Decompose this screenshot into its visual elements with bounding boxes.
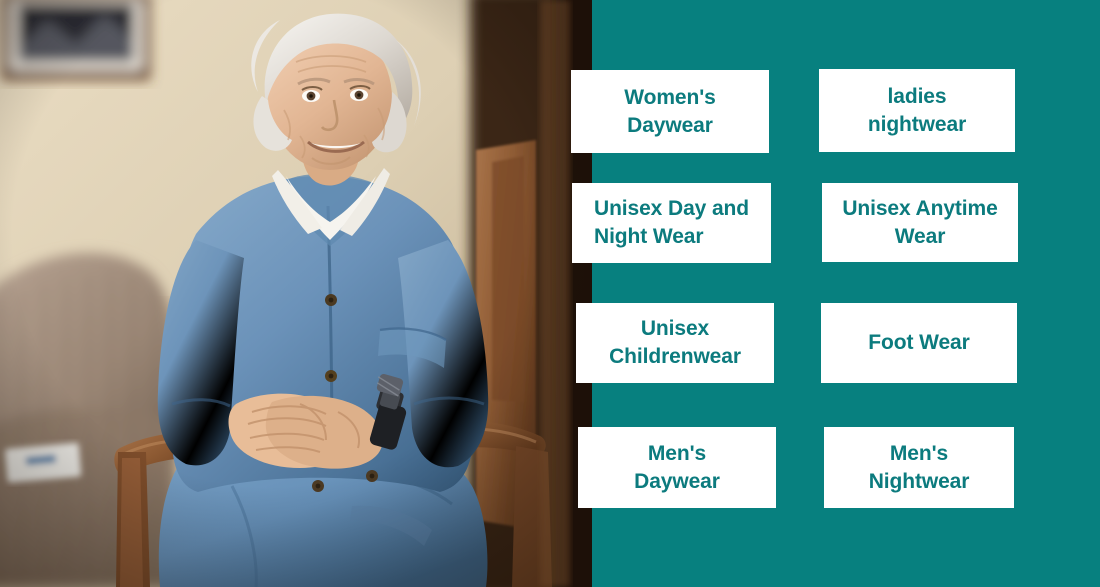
category-card-ladies-nightwear[interactable]: ladies nightwear — [819, 69, 1015, 152]
category-card-label: Men's Nightwear — [824, 440, 1014, 495]
category-card-mens-daywear[interactable]: Men's Daywear — [578, 427, 776, 508]
elderly-woman-photo — [0, 0, 600, 587]
category-card-label: Foot Wear — [821, 329, 1017, 357]
category-card-label: Unisex Anytime Wear — [822, 195, 1018, 250]
category-card-mens-nightwear[interactable]: Men's Nightwear — [824, 427, 1014, 508]
category-card-unisex-day-night-wear[interactable]: Unisex Day and Night Wear — [572, 183, 771, 263]
category-card-foot-wear[interactable]: Foot Wear — [821, 303, 1017, 383]
category-card-label: Women's Daywear — [571, 84, 769, 139]
category-card-unisex-childrenwear[interactable]: Unisex Childrenwear — [576, 303, 774, 383]
category-card-label: Unisex Day and Night Wear — [572, 195, 771, 250]
category-card-label: Men's Daywear — [578, 440, 776, 495]
promo-banner: Women's Daywear ladies nightwear Unisex … — [0, 0, 1100, 587]
category-card-label: ladies nightwear — [819, 83, 1015, 138]
category-card-label: Unisex Childrenwear — [576, 315, 774, 370]
category-card-unisex-anytime-wear[interactable]: Unisex Anytime Wear — [822, 183, 1018, 262]
category-card-womens-daywear[interactable]: Women's Daywear — [571, 70, 769, 153]
